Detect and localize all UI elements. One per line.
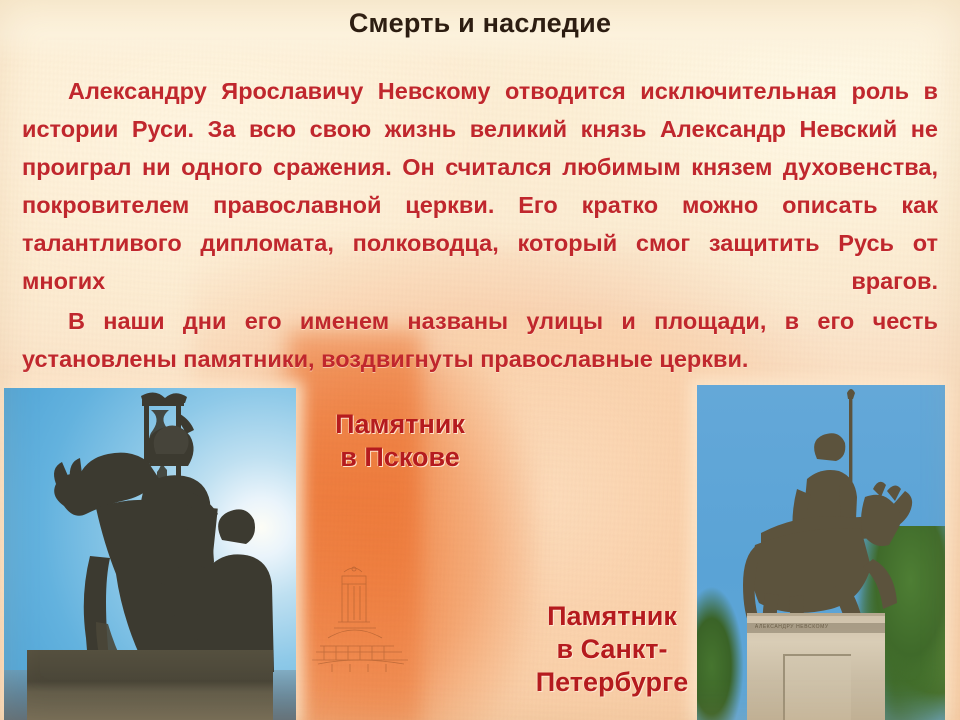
spb-caption-line-1: Памятник <box>508 600 716 633</box>
spb-caption-line-2: в Санкт- <box>508 633 716 666</box>
pskov-pedestal <box>27 650 272 720</box>
body-paragraph-2: В наши дни его именем названы улицы и пл… <box>22 302 938 378</box>
pskov-caption-line-1: Памятник <box>300 408 500 441</box>
pskov-caption-line-2: в Пскове <box>300 441 500 474</box>
body-text-block: Александру Ярославичу Невскому отводится… <box>22 72 938 378</box>
saint-petersburg-caption: Памятник в Санкт- Петербурге <box>508 600 716 699</box>
pskov-caption: Памятник в Пскове <box>300 408 500 474</box>
spb-pedestal-inscription: АЛЕКСАНДРУ НЕВСКОМУ <box>755 623 866 632</box>
spb-caption-line-3: Петербурге <box>508 666 716 699</box>
pskov-monument-photo <box>4 388 296 720</box>
page-title: Смерть и наследие <box>0 8 960 39</box>
slide-root: Смерть и наследие Александру Ярославичу … <box>0 0 960 720</box>
spb-pedestal: АЛЕКСАНДРУ НЕВСКОМУ <box>747 613 886 720</box>
saint-petersburg-monument-photo: АЛЕКСАНДРУ НЕВСКОМУ <box>697 385 945 720</box>
spb-pedestal-inset <box>783 654 852 720</box>
body-paragraph-1: Александру Ярославичу Невскому отводится… <box>22 72 938 300</box>
